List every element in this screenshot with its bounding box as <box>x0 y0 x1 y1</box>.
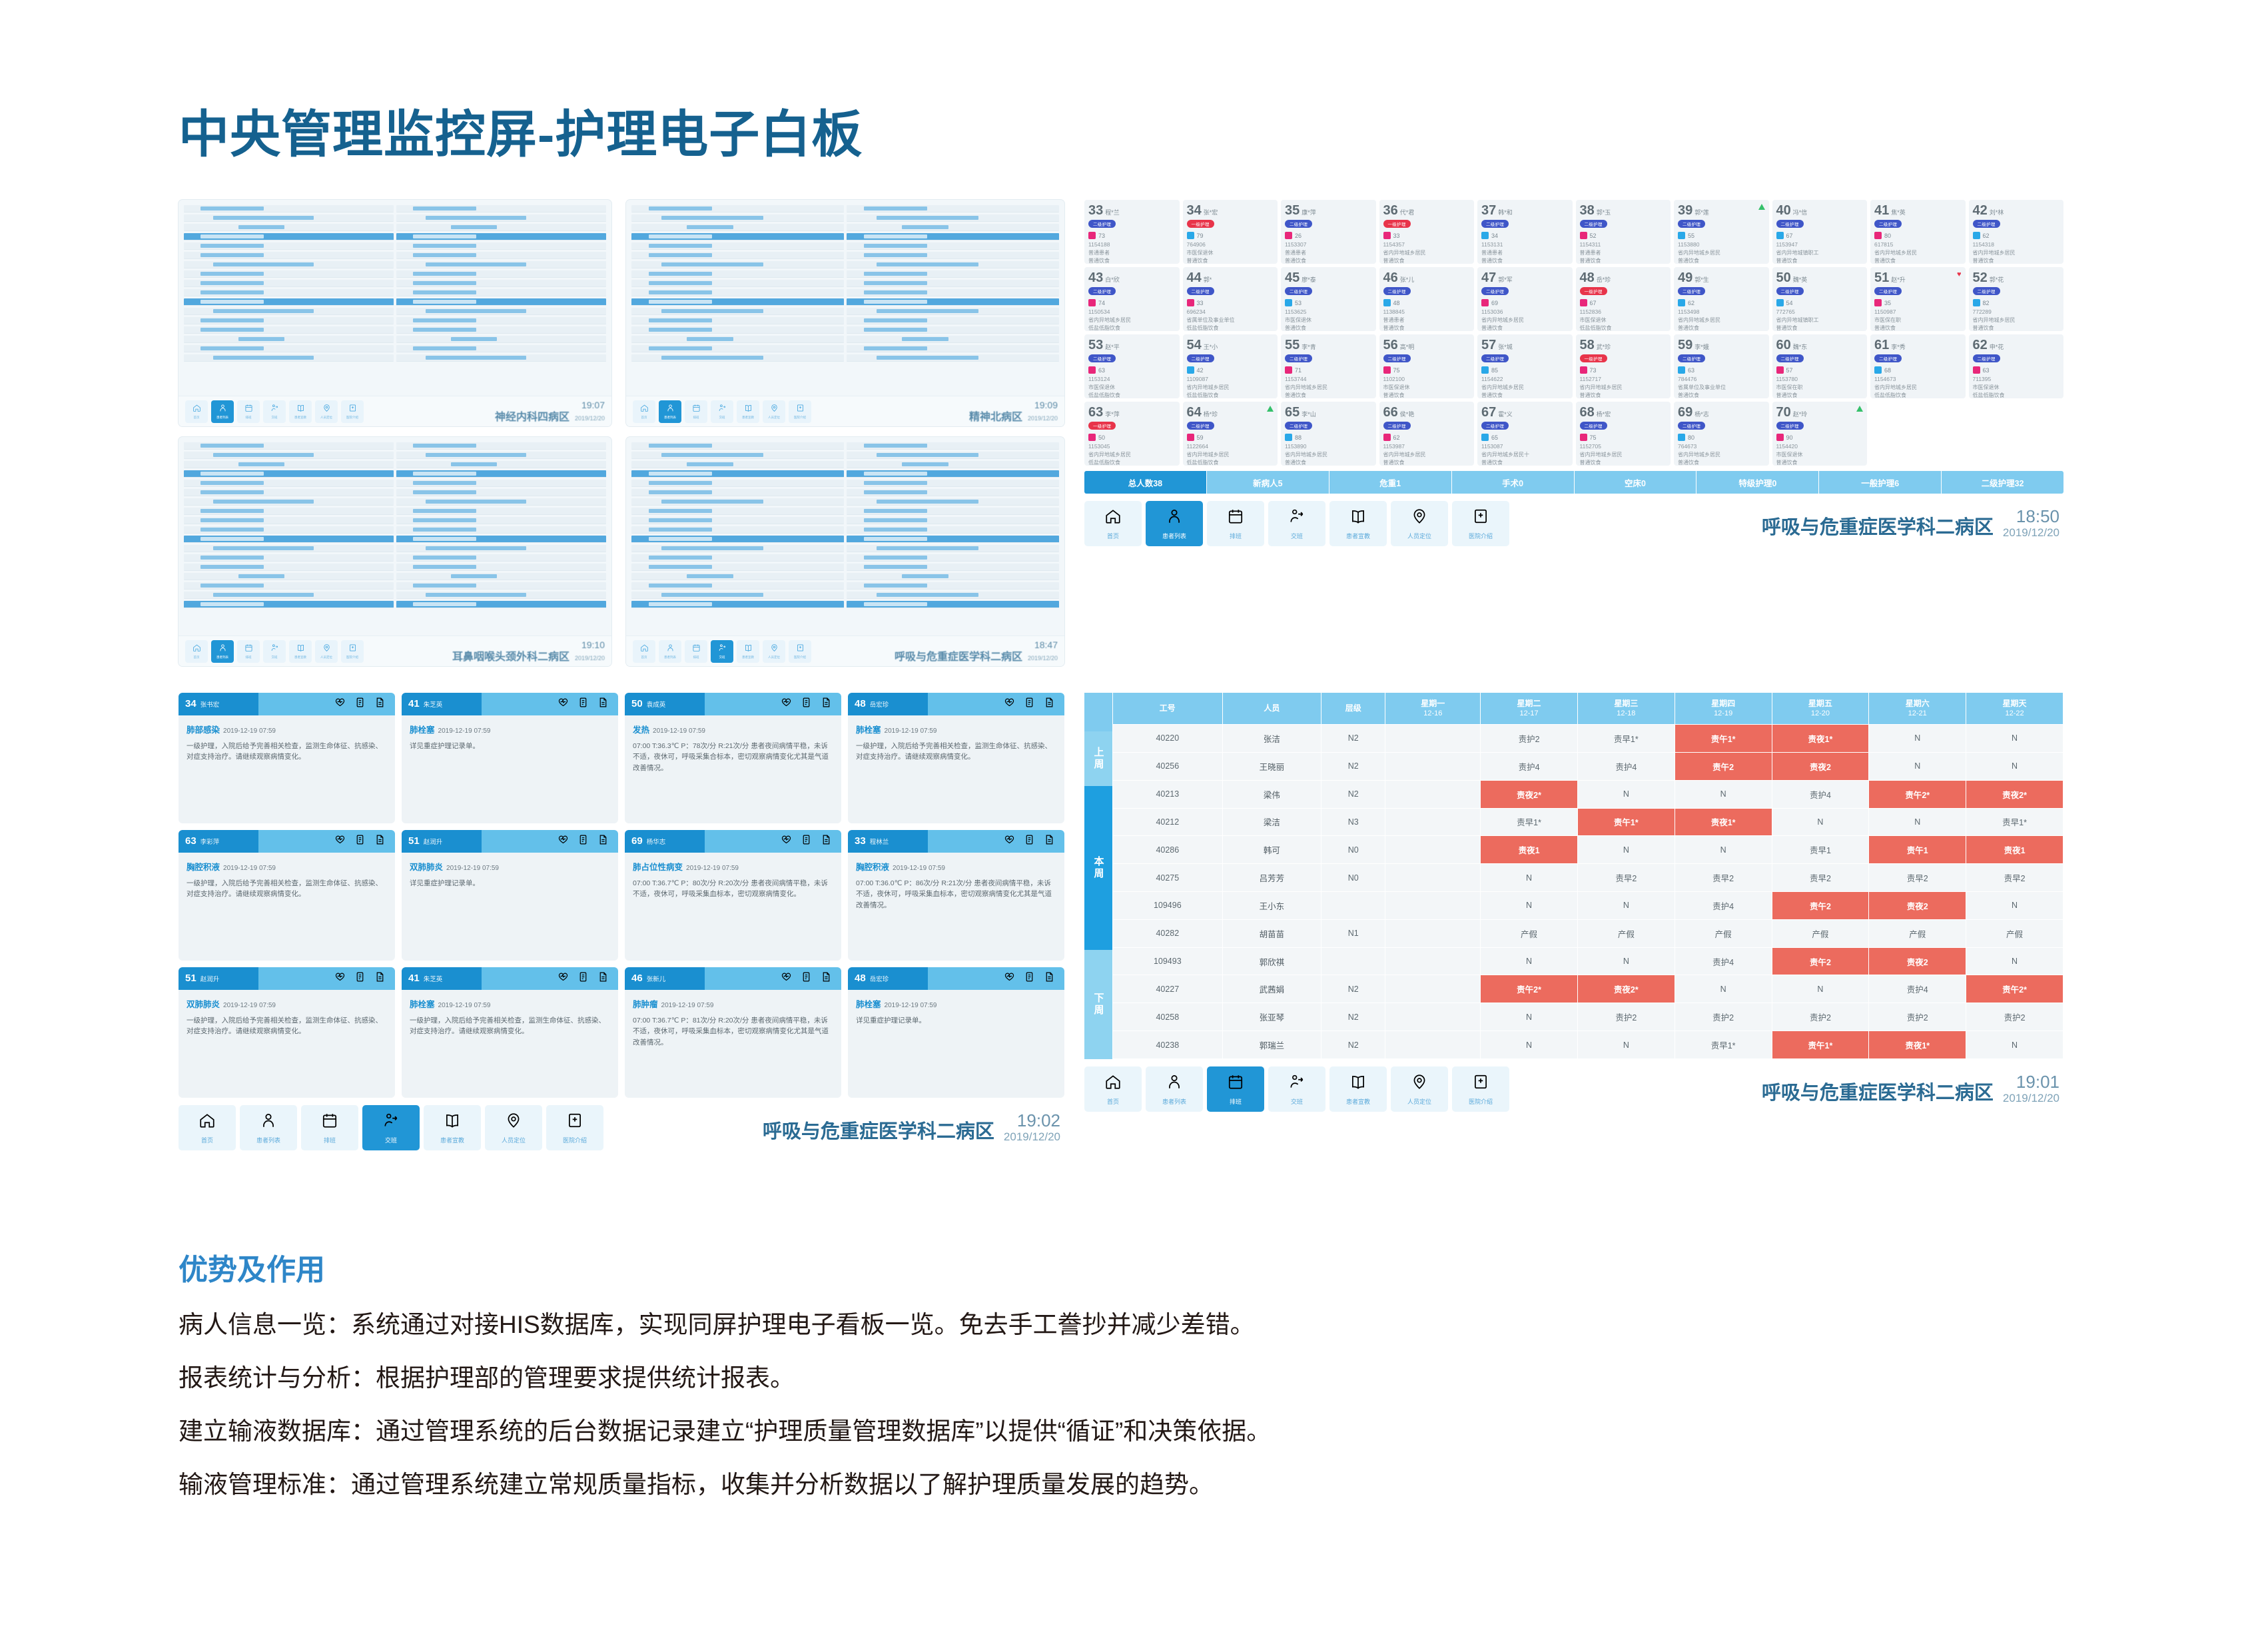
thumb-nav-item[interactable]: 患者列表 <box>659 400 681 423</box>
thumb-nav-item[interactable]: 排班 <box>237 400 260 423</box>
shift-cell[interactable]: 责夜1* <box>1869 1031 1966 1059</box>
thumb-nav-item[interactable]: 交班 <box>711 400 733 423</box>
shift-cell[interactable]: 责夜2 <box>1869 892 1966 920</box>
thumb-nav-item[interactable]: 人员定位 <box>315 400 338 423</box>
patient-diet: 普通饮食 <box>1580 392 1668 398</box>
nav-item-book[interactable]: 患者宣教 <box>1329 501 1387 546</box>
thumb-nav-label: 患者列表 <box>664 415 676 419</box>
table-row[interactable]: 40275吕芳芳N0N责早2责早2责早2责早2责早2 <box>1113 864 2063 892</box>
patient-card[interactable]: 40冯*信二级护理671153947省内异地城镇职工普通饮食 <box>1772 200 1868 264</box>
stat-item[interactable]: 新病人5 <box>1207 471 1329 494</box>
handover-card-icons[interactable] <box>258 967 395 990</box>
shift-cell[interactable]: 责午2 <box>1675 752 1772 780</box>
bed-number: 46 <box>631 967 643 990</box>
shift-cell[interactable] <box>1385 780 1481 808</box>
monitor-thumbnail[interactable]: 首页患者列表排班交班患者宣教人员定位医院介绍 神经内科四病区 19:07 201… <box>179 200 611 426</box>
handover-card[interactable]: 50袁成英发热2019-12-19 07:5907:00 T:36.3℃ P：7… <box>625 693 841 823</box>
handover-card[interactable]: 34张书宏肺部感染2019-12-19 07:59一级护理，入院后给予完善相关检… <box>179 693 395 823</box>
diagnosis: 肺栓塞 <box>856 1000 881 1009</box>
nav-items[interactable]: 首页患者列表排班交班患者宣教人员定位医院介绍 <box>179 1105 603 1150</box>
patient-type: 普通患者 <box>1088 249 1176 256</box>
shift-cell[interactable]: 责夜1* <box>1772 725 1869 753</box>
shift-cell[interactable]: N <box>1675 780 1772 808</box>
shift-cell[interactable] <box>1385 975 1481 1003</box>
shift-cell[interactable] <box>1385 947 1481 975</box>
thumb-form-row <box>184 298 394 306</box>
patient-card[interactable]: 50魏*英二级护理54772765省内异地城镇职工普通饮食 <box>1772 267 1868 331</box>
handover-icon <box>270 404 279 414</box>
patient-type: 省属单位及事业单位 <box>1678 384 1766 391</box>
nav-item-calendar[interactable]: 排班 <box>1207 501 1264 546</box>
thumb-form-row <box>631 564 844 571</box>
nav-items[interactable]: 首页患者列表排班交班患者宣教人员定位医院介绍 <box>1084 501 1509 546</box>
shift-cell[interactable]: N <box>1577 947 1675 975</box>
shift-cell[interactable] <box>1385 752 1481 780</box>
shift-cell[interactable]: 责午1* <box>1675 725 1772 753</box>
patient-card[interactable]: 57张*城二级护理851154622省内异地城乡居民普通饮食 <box>1477 334 1573 398</box>
shift-cell[interactable] <box>1385 892 1481 920</box>
patient-name: 李*萍 <box>1105 410 1120 418</box>
table-row[interactable]: 109493郭欣祺NN责护4责午2责夜2N <box>1113 947 2063 975</box>
patient-card[interactable]: 46张*儿二级护理481138845普通患者普通饮食 <box>1379 267 1475 331</box>
patient-card[interactable]: 56高*明二级护理751102100市医保退休普通饮食 <box>1379 334 1475 398</box>
handover-card[interactable]: 33程林兰胸腔积液2019-12-19 07:5907:00 T:36.0℃ P… <box>848 830 1064 961</box>
shift-cell[interactable]: 责护4 <box>1772 780 1869 808</box>
shift-cell[interactable]: 责午2* <box>1481 975 1578 1003</box>
thumb-nav-item[interactable]: 排班 <box>237 640 260 663</box>
monitor-thumbnail[interactable]: 首页患者列表排班交班患者宣教人员定位医院介绍 精神北病区 19:09 2019/… <box>626 200 1064 426</box>
bed-number: 38 <box>1580 204 1595 217</box>
patient-diet: 普通饮食 <box>1678 392 1766 398</box>
thumbnail-footer: 首页患者列表排班交班患者宣教人员定位医院介绍 精神北病区 19:09 2019/… <box>626 396 1064 426</box>
shift-cell[interactable]: 责护2 <box>1966 1003 2063 1031</box>
shift-cell[interactable] <box>1385 1003 1481 1031</box>
handover-card-icons[interactable] <box>705 693 841 715</box>
shift-cell[interactable]: 责夜1* <box>1675 808 1772 836</box>
table-row[interactable]: 40220张洁N2责护2责早1*责午1*责夜1*NN <box>1113 725 2063 753</box>
patient-card[interactable]: 34张*宏一级护理79764906市医保退休普通饮食 <box>1183 200 1278 264</box>
thumb-nav-item[interactable]: 人员定位 <box>315 640 338 663</box>
vitals-icon <box>1024 834 1035 849</box>
patient-card[interactable]: 67霍*义二级护理651153087省内异地城乡居民十普通饮食 <box>1477 402 1573 466</box>
patient-name: 杨*宏 <box>1597 410 1611 418</box>
patient-card[interactable]: ♥51赵*升二级护理351150987市医保在职普通饮食 <box>1870 267 1966 331</box>
stat-item[interactable]: 手术0 <box>1452 471 1575 494</box>
patient-diet: 普通饮食 <box>1383 257 1471 264</box>
handover-card[interactable]: 63李彩萍胸腔积液2019-12-19 07:59一级护理，入院后给予完善相关检… <box>179 830 395 961</box>
shift-cell[interactable]: 责早1 <box>1772 836 1869 864</box>
thumb-form-row <box>396 242 606 250</box>
nav-item-hospital[interactable]: 医院介绍 <box>1452 1066 1509 1112</box>
handover-card-icons[interactable] <box>258 830 395 853</box>
patient-card[interactable]: 45廖*泰二级护理531153625市医保退休普通饮食 <box>1281 267 1376 331</box>
shift-cell[interactable]: N <box>1577 1031 1675 1059</box>
nav-item-home[interactable]: 首页 <box>179 1105 236 1150</box>
nav-item-handover[interactable]: 交班 <box>1268 1066 1325 1112</box>
thumb-form-row <box>847 564 1059 571</box>
care-level-badge: 二级护理 <box>1874 287 1902 295</box>
thumb-nav-item[interactable]: 医院介绍 <box>789 640 811 663</box>
shift-cell[interactable]: 产假 <box>1577 919 1675 947</box>
shift-cell[interactable]: N <box>1577 836 1675 864</box>
nav-item-location-pin[interactable]: 人员定位 <box>485 1105 542 1150</box>
thumb-nav-item[interactable]: 患者宣教 <box>737 400 759 423</box>
shift-cell[interactable]: N <box>1869 808 1966 836</box>
handover-card[interactable]: 41朱芝英肺栓塞2019-12-19 07:59一级护理，入院后给予完善相关检查… <box>402 967 618 1098</box>
shift-cell[interactable]: 责护2 <box>1481 725 1578 753</box>
shift-cell[interactable]: 责午1* <box>1577 808 1675 836</box>
week-label-prev[interactable]: 上周 <box>1084 731 1112 786</box>
handover-card-icons[interactable] <box>928 967 1064 990</box>
shift-cell[interactable]: 责夜2 <box>1869 947 1966 975</box>
thumb-form-row <box>396 517 606 524</box>
shift-cell[interactable]: 责午2* <box>1869 780 1966 808</box>
table-header-row: 工号人员层级星期一12-16星期二12-17星期三12-18星期四12-19星期… <box>1113 693 2063 725</box>
heart-monitor-icon <box>558 834 569 849</box>
handover-card-header: 41朱芝英 <box>402 967 618 990</box>
patient-card[interactable]: 36代*君一级护理331154357省内异地城乡居民普通饮食 <box>1379 200 1475 264</box>
shift-cell[interactable]: 责午2* <box>1966 975 2063 1003</box>
table-row[interactable]: 40256王晓丽N2责护4责护4责午2责夜2NN <box>1113 752 2063 780</box>
thumb-nav-item[interactable]: 交班 <box>263 400 286 423</box>
thumb-form-row <box>396 224 606 231</box>
patient-id: 1153880 <box>1678 241 1766 248</box>
shift-cell[interactable]: 责午2 <box>1772 892 1869 920</box>
thumb-nav-item[interactable]: 排班 <box>685 640 707 663</box>
nav-item-calendar[interactable]: 排班 <box>301 1105 358 1150</box>
nav-item-person[interactable]: 患者列表 <box>240 1105 297 1150</box>
shift-cell[interactable] <box>1385 836 1481 864</box>
stat-item[interactable]: 二级护理32 <box>1942 471 2063 494</box>
handover-card-icons[interactable] <box>482 830 618 853</box>
heart-monitor-icon <box>781 834 792 849</box>
stat-item[interactable]: 特级护理0 <box>1696 471 1819 494</box>
shift-cell[interactable]: N <box>1966 725 2063 753</box>
thumb-nav-item[interactable]: 交班 <box>711 640 733 663</box>
shift-cell[interactable]: N <box>1772 808 1869 836</box>
patient-card[interactable]: 54王*小二级护理421109087省内异地城乡居民低盐低脂饮食 <box>1183 334 1278 398</box>
table-row[interactable]: 40286韩可N0责夜1NN责早1责午1责夜1 <box>1113 836 2063 864</box>
thumb-form-row <box>184 508 394 515</box>
nav-item-hospital[interactable]: 医院介绍 <box>546 1105 603 1150</box>
patient-card[interactable]: 48岳*珍一级护理671152836市医保退休低盐低脂饮食 <box>1576 267 1671 331</box>
patient-card[interactable]: 53赵*平二级护理631153124市医保退休低盐低脂饮食 <box>1084 334 1180 398</box>
handover-card-icons[interactable] <box>705 967 841 990</box>
thumb-nav-item[interactable]: 医院介绍 <box>341 640 364 663</box>
patient-card[interactable]: 59李*娥二级护理63784476省属单位及事业单位普通饮食 <box>1674 334 1769 398</box>
patient-name: 李*青 <box>1302 342 1316 351</box>
patient-type: 省内异地城镇职工 <box>1776 316 1864 324</box>
shift-cell[interactable]: N <box>1481 864 1578 892</box>
nav-item-book[interactable]: 患者宣教 <box>1329 1066 1387 1112</box>
shift-cell[interactable]: 责夜1 <box>1966 836 2063 864</box>
patient-card[interactable]: 58武*珍一级护理731152717省内异地城乡居民普通饮食 <box>1576 334 1671 398</box>
handover-card-icons[interactable] <box>705 830 841 853</box>
shift-cell[interactable]: N <box>1577 892 1675 920</box>
handover-icon <box>270 643 279 653</box>
shift-cell[interactable]: 责护4 <box>1577 752 1675 780</box>
thumb-nav-item[interactable]: 排班 <box>685 400 707 423</box>
record-time: 2019-12-19 07:59 <box>661 1002 714 1009</box>
shift-cell[interactable]: 责护2 <box>1772 1003 1869 1031</box>
shift-cell[interactable]: 责夜1 <box>1481 836 1578 864</box>
patient-age: 59 <box>1197 434 1204 441</box>
patient-card[interactable]: 55李*青二级护理711153744省内异地城乡居民普通饮食 <box>1281 334 1376 398</box>
shift-cell[interactable]: N <box>1481 1031 1578 1059</box>
week-label-current[interactable]: 本周 <box>1084 786 1112 950</box>
table-row[interactable]: 40212梁洁N3责早1*责午1*责夜1*NN责早1* <box>1113 808 2063 836</box>
monitor-thumbnail[interactable]: 首页患者列表排班交班患者宣教人员定位医院介绍 呼吸与危重症医学科二病区 18:4… <box>626 437 1064 666</box>
shift-cell[interactable]: 责早1* <box>1577 725 1675 753</box>
shift-cell[interactable]: 责护4 <box>1675 892 1772 920</box>
handover-card-header: 50袁成英 <box>625 693 841 715</box>
patient-name: 李彩萍 <box>200 837 220 846</box>
patient-card[interactable]: 43白*欣二级护理741150534省内异地城乡居民低盐低脂饮食 <box>1084 267 1180 331</box>
shift-cell[interactable]: N <box>1966 892 2063 920</box>
shift-cell[interactable]: N <box>1966 752 2063 780</box>
nav-items[interactable]: 首页患者列表排班交班患者宣教人员定位医院介绍 <box>1084 1066 1509 1112</box>
thumb-nav-item[interactable]: 患者宣教 <box>289 640 312 663</box>
patient-card[interactable]: 63李*萍一级护理501153045省内异地城乡居民低盐低脂饮食 <box>1084 402 1180 466</box>
patient-card[interactable]: 35康*萍二级护理261153307普通患者普通饮食 <box>1281 200 1376 264</box>
nav-item-home[interactable]: 首页 <box>1084 1066 1142 1112</box>
shift-cell[interactable]: 责夜2* <box>1577 975 1675 1003</box>
thumb-form-row <box>184 252 394 259</box>
column-date: 12-20 <box>1772 709 1869 719</box>
table-row[interactable]: 40227武茜娟N2责午2*责夜2*NN责护4责午2* <box>1113 975 2063 1003</box>
schedule-screen-navbar: 首页患者列表排班交班患者宣教人员定位医院介绍 呼吸与危重症医学科二病区 19:0… <box>1084 1065 2063 1113</box>
shift-cell[interactable]: 产假 <box>1772 919 1869 947</box>
hospital-icon <box>796 643 805 653</box>
shift-cell[interactable]: 产假 <box>1675 919 1772 947</box>
handover-card[interactable]: 51赵润升双肺肺炎2019-12-19 07:59详见重症护理记录单。 <box>402 830 618 961</box>
patient-card[interactable]: 61李*秀二级护理681154673省内异地城乡居民低盐低脂饮食 <box>1870 334 1966 398</box>
shift-cell[interactable]: N <box>1869 752 1966 780</box>
nav-item-home[interactable]: 首页 <box>1084 501 1142 546</box>
shift-cell[interactable]: N <box>1481 1003 1578 1031</box>
thumbnail-nav[interactable]: 首页患者列表排班交班患者宣教人员定位医院介绍 <box>185 400 364 423</box>
table-row[interactable]: 109496王小东NN责护4责午2责夜2N <box>1113 892 2063 920</box>
staff-name: 梁伟 <box>1222 780 1321 808</box>
nav-item-handover[interactable]: 交班 <box>1268 501 1325 546</box>
patient-diet: 普通饮食 <box>1285 257 1373 264</box>
shift-cell[interactable]: N <box>1675 836 1772 864</box>
thumbnail-nav[interactable]: 首页患者列表排班交班患者宣教人员定位医院介绍 <box>185 640 364 663</box>
patient-card[interactable]: 42刘*林二级护理621154318省内异地城乡居民普通饮食 <box>1969 200 2064 264</box>
patient-card[interactable]: 62申*花二级护理63711395市医保退休低盐低脂饮食 <box>1969 334 2064 398</box>
patient-id: 1154420 <box>1776 443 1864 450</box>
thumb-nav-item[interactable]: 医院介绍 <box>789 400 811 423</box>
gender-icon <box>1187 366 1194 374</box>
nav-item-calendar[interactable]: 排班 <box>1207 1066 1264 1112</box>
week-label-next[interactable]: 下周 <box>1084 950 1112 1059</box>
diagnosis: 肺栓塞 <box>410 725 435 735</box>
nav-item-book[interactable]: 患者宣教 <box>424 1105 481 1150</box>
patient-card[interactable]: 38郭*玉二级护理521154311普通患者普通饮食 <box>1576 200 1671 264</box>
shift-cell[interactable]: N <box>1966 1031 2063 1059</box>
stat-item[interactable]: 一般护理6 <box>1819 471 1942 494</box>
patient-age: 62 <box>1393 434 1400 441</box>
shift-cell[interactable] <box>1385 919 1481 947</box>
shift-cell[interactable] <box>1385 725 1481 753</box>
shift-cell[interactable]: 责午1 <box>1869 836 1966 864</box>
patient-card[interactable]: 33程*兰二级护理731154188普通患者普通饮食 <box>1084 200 1180 264</box>
nav-item-location-pin[interactable]: 人员定位 <box>1391 501 1448 546</box>
table-row[interactable]: 40238郭瑞兰N2NN责早1*责午1*责夜1*N <box>1113 1031 2063 1059</box>
stat-item[interactable]: 总人数38 <box>1084 471 1207 494</box>
thumb-nav-item[interactable]: 患者列表 <box>211 400 234 423</box>
patient-id: 1153307 <box>1285 241 1373 248</box>
patient-id: 1102100 <box>1383 376 1471 382</box>
patient-card[interactable]: 68杨*宏二级护理751152705省内异地城乡居民普通饮食 <box>1576 402 1671 466</box>
shift-cell[interactable]: 责护4 <box>1869 975 1966 1003</box>
thumb-nav-item[interactable]: 首页 <box>185 640 208 663</box>
table-row[interactable]: 40213梁伟N2责夜2*NN责护4责午2*责夜2* <box>1113 780 2063 808</box>
patient-age: 57 <box>1786 367 1793 374</box>
shift-cell[interactable]: 责早1* <box>1481 808 1578 836</box>
shift-cell[interactable]: 责夜2* <box>1966 780 2063 808</box>
shift-cell[interactable]: 责护2 <box>1577 1003 1675 1031</box>
thumb-nav-item[interactable]: 人员定位 <box>763 640 785 663</box>
nursing-note: 07:00 T:36.3℃ P：78次/分 R:21次/分 患者夜间病情平稳，未… <box>633 741 833 773</box>
patient-card[interactable]: 66侯*艳二级护理621153987省内异地城乡居民普通饮食 <box>1379 402 1475 466</box>
staff-level: N2 <box>1321 780 1385 808</box>
thumbnail-ward: 神经内科四病区 <box>495 408 569 424</box>
patient-card[interactable]: 64杨*珍二级护理591122664省内异地城乡居民低盐低脂饮食 <box>1183 402 1278 466</box>
bed-number: 63 <box>1088 406 1103 419</box>
shift-cell[interactable]: 产假 <box>1481 919 1578 947</box>
shift-cell[interactable]: 责护4 <box>1481 752 1578 780</box>
screen-meta: 呼吸与危重症医学科二病区 19:02 2019/12/20 <box>763 1112 1064 1143</box>
thumb-nav-item[interactable]: 交班 <box>263 640 286 663</box>
patient-name: 张新儿 <box>647 974 666 983</box>
shift-cell[interactable]: 产假 <box>1869 919 1966 947</box>
nav-item-person[interactable]: 患者列表 <box>1146 501 1203 546</box>
shift-cell[interactable]: 责夜2* <box>1481 780 1578 808</box>
thumbnail-time: 19:10 <box>581 639 605 650</box>
shift-cell[interactable]: 责早2 <box>1966 864 2063 892</box>
shift-cell[interactable]: 责早2 <box>1772 864 1869 892</box>
table-row[interactable]: 40258张亚琴N2N责护2责护2责护2责护2责护2 <box>1113 1003 2063 1031</box>
thumb-nav-item[interactable]: 首页 <box>185 400 208 423</box>
thumbnail-nav[interactable]: 首页患者列表排班交班患者宣教人员定位医院介绍 <box>633 640 811 663</box>
patient-card[interactable]: 52郭*花二级护理82772289省内异地城乡居民普通饮食 <box>1969 267 2064 331</box>
thumb-nav-item[interactable]: 首页 <box>633 400 655 423</box>
patient-card[interactable]: 41焦*英二级护理80617815省内异地城乡居民普通饮食 <box>1870 200 1966 264</box>
shift-cell[interactable]: N <box>1966 947 2063 975</box>
handover-card[interactable]: 48岳宏珍肺栓塞2019-12-19 07:59一级护理，入院后给予完善相关检查… <box>848 693 1064 823</box>
handover-card-icons[interactable] <box>928 830 1064 853</box>
staff-name: 王晓丽 <box>1222 752 1321 780</box>
thumbnail-date: 2019/12/20 <box>1028 655 1058 661</box>
shift-cell[interactable]: 责早1* <box>1675 1031 1772 1059</box>
patient-card[interactable]: 39郭*莲二级护理551153880省内异地城乡居民普通饮食 <box>1674 200 1769 264</box>
patient-card[interactable]: 65李*山二级护理881153890省内异地城乡居民普通饮食 <box>1281 402 1376 466</box>
handover-card[interactable]: 48岳宏珍肺栓塞2019-12-19 07:59详见重症护理记录单。 <box>848 967 1064 1098</box>
shift-cell[interactable]: 责夜2 <box>1772 752 1869 780</box>
shift-cell[interactable]: 责护2 <box>1869 1003 1966 1031</box>
thumb-nav-item[interactable]: 医院介绍 <box>341 400 364 423</box>
handover-card-body: 双肺肺炎2019-12-19 07:59一级护理，入院后给予完善相关检查，监测生… <box>179 990 395 1044</box>
handover-card[interactable]: 46张新儿肺肿瘤2019-12-19 07:5907:00 T:36.7℃ P：… <box>625 967 841 1098</box>
shift-cell[interactable]: 责早2 <box>1869 864 1966 892</box>
column-header: 星期一12-16 <box>1385 693 1481 725</box>
nav-item-hospital[interactable]: 医院介绍 <box>1452 501 1509 546</box>
handover-card[interactable]: 51赵润升双肺肺炎2019-12-19 07:59一级护理，入院后给予完善相关检… <box>179 967 395 1098</box>
shift-cell[interactable]: 责护2 <box>1675 1003 1772 1031</box>
monitor-thumbnail[interactable]: 首页患者列表排班交班患者宣教人员定位医院介绍 耳鼻咽喉头颈外科二病区 19:10… <box>179 437 611 666</box>
stat-item[interactable]: 危重1 <box>1329 471 1452 494</box>
gender-icon <box>1383 299 1391 306</box>
thumb-nav-item[interactable]: 患者列表 <box>659 640 681 663</box>
thumb-form-row <box>631 336 844 343</box>
care-level-badge: 二级护理 <box>1088 220 1116 228</box>
thumb-nav-item[interactable]: 人员定位 <box>763 400 785 423</box>
nav-item-person[interactable]: 患者列表 <box>1146 1066 1203 1112</box>
thumb-nav-item[interactable]: 患者宣教 <box>289 400 312 423</box>
shift-cell[interactable]: N <box>1481 947 1578 975</box>
handover-card-icons[interactable] <box>482 693 618 715</box>
patient-card[interactable]: 49郭*生二级护理621153498省内异地城乡居民普通饮食 <box>1674 267 1769 331</box>
shift-cell[interactable]: N <box>1481 892 1578 920</box>
handover-card[interactable]: 69杨华志肺占位性病变2019-12-19 07:5907:00 T:36.7℃… <box>625 830 841 961</box>
thumbnail-nav[interactable]: 首页患者列表排班交班患者宣教人员定位医院介绍 <box>633 400 811 423</box>
shift-cell[interactable] <box>1385 864 1481 892</box>
nav-item-handover[interactable]: 交班 <box>362 1105 420 1150</box>
patient-card[interactable]: 70赵*玲二级护理901154420市医保退休普通饮食 <box>1772 402 1868 466</box>
table-row[interactable]: 40282胡苗苗N1产假产假产假产假产假产假 <box>1113 919 2063 947</box>
shift-cell[interactable]: N <box>1675 975 1772 1003</box>
shift-cell[interactable]: 责午1* <box>1772 1031 1869 1059</box>
shift-cell[interactable]: N <box>1577 780 1675 808</box>
book-icon <box>296 404 305 414</box>
shift-cell[interactable]: 产假 <box>1966 919 2063 947</box>
thumb-form-row <box>184 270 394 278</box>
diagnosis: 肺占位性病变 <box>633 863 683 872</box>
thumbnail-date: 2019/12/20 <box>575 655 605 661</box>
stat-item[interactable]: 空床0 <box>1575 471 1697 494</box>
patient-card[interactable]: 47郭*军二级护理691153036省内异地城乡居民普通饮食 <box>1477 267 1573 331</box>
handover-card-icons[interactable] <box>482 967 618 990</box>
thumb-nav-item[interactable]: 患者列表 <box>211 640 234 663</box>
handover-card-icons[interactable] <box>258 693 395 715</box>
shift-cell[interactable]: 责早2 <box>1675 864 1772 892</box>
patient-card[interactable]: 44郭*二级护理33696234省属单位及事业单位低盐低脂饮食 <box>1183 267 1278 331</box>
shift-cell[interactable]: 责早1* <box>1966 808 2063 836</box>
shift-cell[interactable]: N <box>1869 725 1966 753</box>
patient-card[interactable]: 60魏*东二级护理571153780市医保在职普通饮食 <box>1772 334 1868 398</box>
nursing-note: 一级护理，入院后给予完善相关检查，监测生命体征、抗感染、对症支持治疗。请继续观察… <box>187 878 387 900</box>
patient-card[interactable]: 69杨*志二级护理80764673省内异地城乡居民普通饮食 <box>1674 402 1769 466</box>
shift-cell[interactable] <box>1385 1031 1481 1059</box>
shift-cell[interactable] <box>1385 808 1481 836</box>
shift-cell[interactable]: 责护4 <box>1675 947 1772 975</box>
nav-item-location-pin[interactable]: 人员定位 <box>1391 1066 1448 1112</box>
thumb-form-row <box>396 354 606 362</box>
care-level-badge: 二级护理 <box>1285 354 1312 362</box>
shift-cell[interactable]: 责午2 <box>1772 947 1869 975</box>
shift-cell[interactable]: N <box>1772 975 1869 1003</box>
thumb-form-row <box>184 470 394 478</box>
thumb-nav-item[interactable]: 首页 <box>633 640 655 663</box>
patient-card[interactable]: 37韩*和二级护理341153131普通患者普通饮食 <box>1477 200 1573 264</box>
thumb-nav-item[interactable]: 患者宣教 <box>737 640 759 663</box>
handover-card-icons[interactable] <box>928 693 1064 715</box>
handover-icon <box>1288 1073 1306 1094</box>
handover-card[interactable]: 41朱芝英肺栓塞2019-12-19 07:59详见重症护理记录单。 <box>402 693 618 823</box>
shift-cell[interactable]: 责早2 <box>1577 864 1675 892</box>
thumb-form-row <box>631 545 844 552</box>
